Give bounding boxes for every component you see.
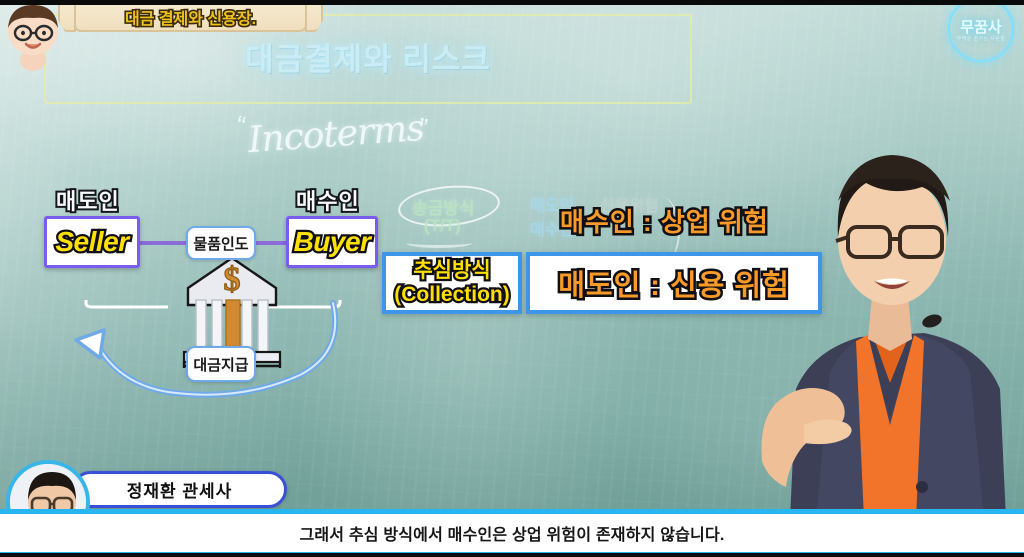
presenter-name: 정재환 관세사 <box>127 477 233 502</box>
chapter-banner-label: 대금 결제와 신용장. <box>58 2 323 32</box>
seller-label: 매도인 <box>56 184 120 216</box>
subtitle-text: 그래서 추심 방식에서 매수인은 상업 위험이 존재하지 않습니다. <box>299 521 724 545</box>
brand-logo: 무꿈사 무역을 꿈꾸는 사람들 <box>942 2 1018 64</box>
page-title: 대금결제와 리스크 <box>44 34 692 79</box>
chalk-underline <box>406 238 472 248</box>
method-caption-text: 추심방식 (Collection) <box>394 259 510 306</box>
chalk-note-tt: (T/T) <box>424 216 461 236</box>
seller-box: Seller <box>44 216 140 268</box>
chapter-banner: 대금 결제와 신용장. <box>58 2 323 32</box>
risk-caption-text: 매도인 : 신용 위험 <box>558 262 790 304</box>
buyer-box: Buyer <box>286 216 378 268</box>
delivery-flow-box: 물품인도 <box>186 226 256 260</box>
payment-flow-box: 대금지급 <box>186 346 256 382</box>
mascot-avatar-icon <box>2 2 64 76</box>
subtitle-bar: 그래서 추심 방식에서 매수인은 상업 위험이 존재하지 않습니다. <box>0 509 1024 557</box>
logo-name: 무꿈사 <box>948 16 1014 37</box>
letterbox-bottom <box>0 553 1024 557</box>
nameplate-bar: 정재환 관세사 <box>72 471 287 508</box>
method-line2: (Collection) <box>394 283 510 306</box>
video-frame: 대금결제와 리스크 대금 결제와 신용장. 무꿈사 무역을 꿈꾸는 사람들 “ … <box>0 0 1024 557</box>
letterbox-top <box>0 0 1024 5</box>
logo-tagline: 무역을 꿈꾸는 사람들 <box>948 35 1014 42</box>
seller-name: Seller <box>55 226 128 258</box>
floating-risk-text: 매수인 : 상업 위험 <box>560 202 769 239</box>
method-line1: 추심방식 <box>413 259 490 282</box>
buyer-label: 매수인 <box>296 184 360 216</box>
risk-caption-box: 매도인 : 신용 위험 <box>526 252 822 314</box>
method-caption-box: 추심방식 (Collection) <box>382 252 522 314</box>
buyer-name: Buyer <box>294 226 371 258</box>
